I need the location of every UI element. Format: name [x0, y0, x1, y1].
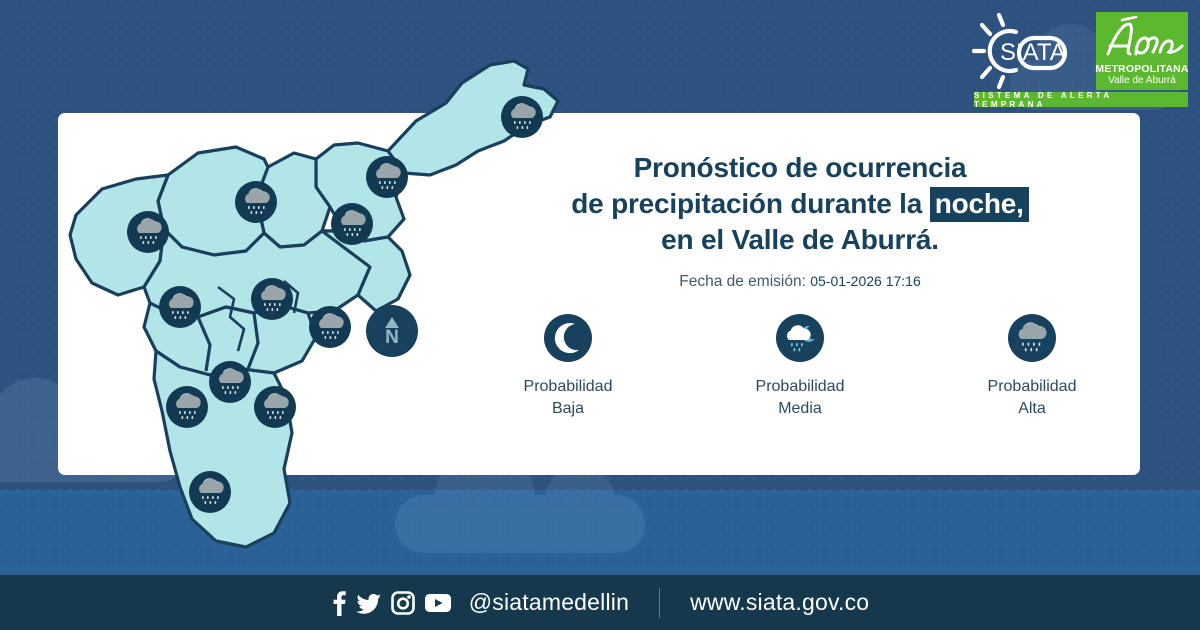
emission-date-value: 05-01-2026 17:16	[810, 273, 921, 289]
title-line-1: Pronóstico de ocurrencia	[470, 150, 1130, 186]
legend-alta-line1: Probabilidad	[988, 376, 1077, 398]
logo-group: SIATA METROPOLITANA Valle de Aburrá	[970, 12, 1188, 90]
footer-bar: @siatamedellin www.siata.gov.co	[0, 575, 1200, 630]
alerta-temprana-text: SISTEMA DE ALERTA TEMPRANA	[974, 91, 1188, 109]
map-weather-pin	[330, 202, 374, 246]
map-weather-pin	[308, 305, 352, 349]
instagram-icon[interactable]	[391, 591, 415, 615]
cloud-rain-icon	[253, 385, 297, 429]
website-url[interactable]: www.siata.gov.co	[690, 589, 869, 616]
legend-label-alta: Probabilidad Alta	[988, 376, 1077, 420]
footer-content: @siatamedellin www.siata.gov.co	[331, 588, 870, 618]
infographic-root: SIATA METROPOLITANA Valle de Aburrá SIST…	[0, 0, 1200, 630]
title-line-2-text: de precipitación durante la	[571, 188, 922, 219]
legend-item-baja: Probabilidad Baja	[493, 313, 643, 420]
page-title: Pronóstico de ocurrencia de precipitació…	[470, 150, 1130, 258]
cloud-rain-icon	[234, 180, 278, 224]
emission-date: Fecha de emisión: 05-01-2026 17:16	[470, 273, 1130, 291]
social-handle[interactable]: @siatamedellin	[469, 589, 629, 616]
legend-label-media: Probabilidad Media	[756, 376, 845, 420]
map-weather-pin	[365, 155, 409, 199]
cloud-rain-icon	[500, 95, 544, 139]
youtube-icon[interactable]	[424, 593, 452, 613]
map-weather-pin	[165, 385, 209, 429]
forecast-content: Pronóstico de ocurrencia de precipitació…	[470, 150, 1130, 420]
legend-label-baja: Probabilidad Baja	[524, 376, 613, 420]
cloud-rain-icon	[158, 285, 202, 329]
cloud-rain-icon	[1007, 313, 1057, 363]
map-weather-pin	[253, 385, 297, 429]
map-weather-pin	[500, 95, 544, 139]
area-script-icon	[1096, 16, 1188, 62]
map-weather-pin	[126, 210, 170, 254]
legend-media-line2: Media	[756, 398, 845, 420]
map-weather-pin	[250, 277, 294, 321]
social-icon-group	[331, 590, 452, 616]
facebook-icon[interactable]	[331, 590, 347, 616]
cloud-rain-icon	[308, 305, 352, 349]
legend-media-line1: Probabilidad	[756, 376, 845, 398]
compass-arrow-icon	[385, 317, 399, 328]
cloud-rain-icon	[165, 385, 209, 429]
area-logo-line2: Valle de Aburrá	[1108, 75, 1176, 87]
cloud-rain-icon	[365, 155, 409, 199]
legend-item-alta: Probabilidad Alta	[957, 313, 1107, 420]
emission-date-label: Fecha de emisión:	[679, 273, 806, 290]
map-weather-pin	[208, 360, 252, 404]
compass-label: N	[385, 329, 399, 346]
twitter-icon[interactable]	[356, 590, 382, 616]
area-logo-line1: METROPOLITANA	[1095, 64, 1188, 75]
probability-legend: Probabilidad Baja	[470, 313, 1130, 420]
cloud-rain-icon	[250, 277, 294, 321]
legend-alta-line2: Alta	[988, 398, 1077, 420]
map-weather-pin	[158, 285, 202, 329]
legend-item-media: Probabilidad Media	[725, 313, 875, 420]
siata-logo-icon: SIATA	[970, 12, 1088, 90]
cloud-moon-rain-icon	[775, 313, 825, 363]
cloud-rain-icon	[188, 470, 232, 514]
cloud-rain-icon	[126, 210, 170, 254]
alerta-temprana-bar: SISTEMA DE ALERTA TEMPRANA	[974, 92, 1188, 107]
compass-north-icon: N	[366, 305, 418, 357]
title-line-2: de precipitación durante la noche,	[470, 186, 1130, 222]
title-highlight-noche: noche,	[930, 187, 1029, 222]
moon-icon	[543, 313, 593, 363]
title-line-3: en el Valle de Aburrá.	[470, 222, 1130, 258]
footer-divider	[659, 588, 660, 618]
legend-baja-line2: Baja	[524, 398, 613, 420]
siata-logo-text: SIATA	[1000, 39, 1066, 66]
map-weather-pin	[234, 180, 278, 224]
cloud-rain-icon	[330, 202, 374, 246]
cloud-rain-icon	[208, 360, 252, 404]
legend-baja-line1: Probabilidad	[524, 376, 613, 398]
area-metropolitana-logo: METROPOLITANA Valle de Aburrá	[1096, 12, 1188, 90]
map-weather-pin	[188, 470, 232, 514]
